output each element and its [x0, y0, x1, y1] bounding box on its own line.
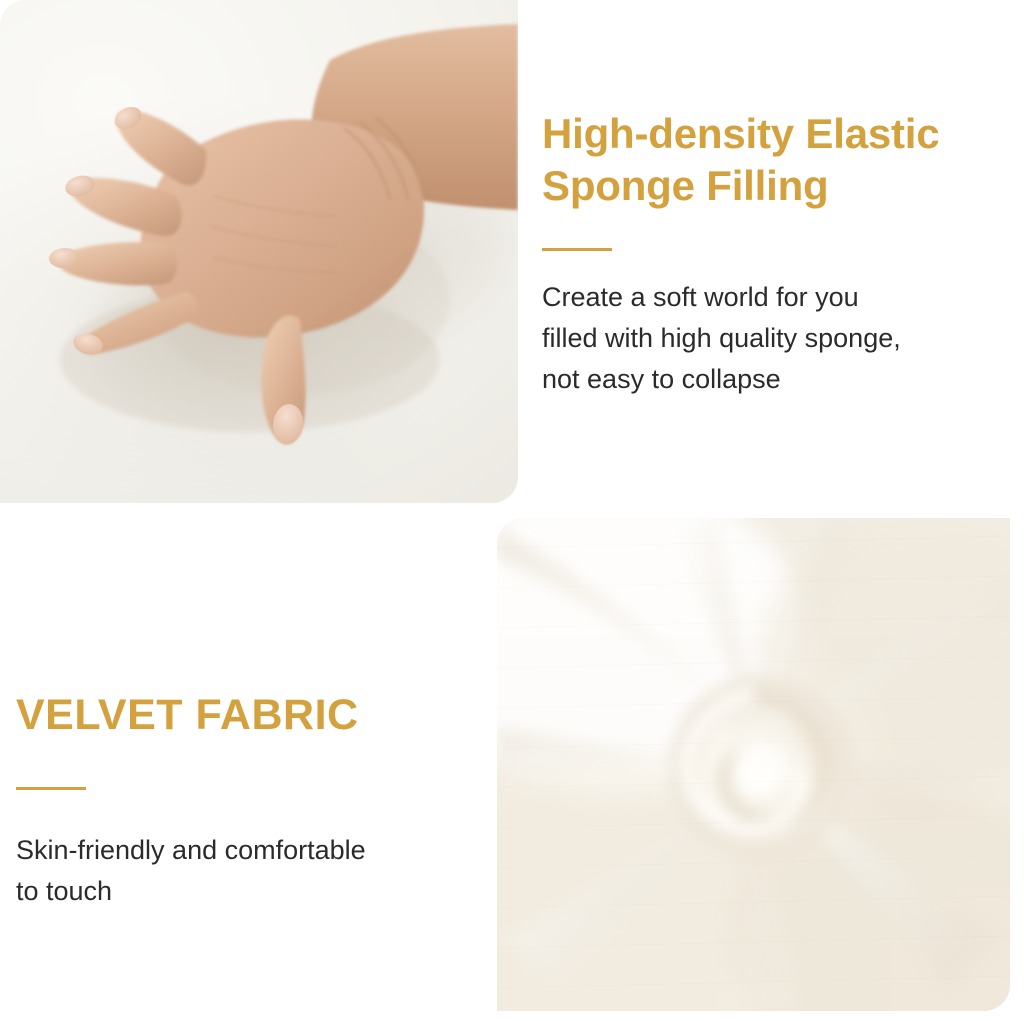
- feature-block-sponge: High-density Elastic Sponge Filling Crea…: [542, 108, 1012, 400]
- infographic-canvas: High-density Elastic Sponge Filling Crea…: [0, 0, 1024, 1021]
- feature-title-sponge: High-density Elastic Sponge Filling: [542, 108, 1012, 212]
- feature-block-velvet: VELVET FABRIC Skin-friendly and comforta…: [16, 690, 476, 912]
- velvet-photo-panel: [497, 518, 1010, 1011]
- accent-rule-sponge: [542, 248, 612, 251]
- feature-description-velvet: Skin-friendly and comfortable to touch: [16, 830, 476, 912]
- feature-title-velvet: VELVET FABRIC: [16, 690, 476, 740]
- feature-description-sponge: Create a soft world for you filled with …: [542, 277, 1012, 400]
- accent-rule-velvet: [16, 787, 86, 790]
- hand-illustration: [0, 0, 518, 503]
- foam-photo-panel: [0, 0, 518, 503]
- velvet-fabric-illustration: [497, 518, 1010, 1011]
